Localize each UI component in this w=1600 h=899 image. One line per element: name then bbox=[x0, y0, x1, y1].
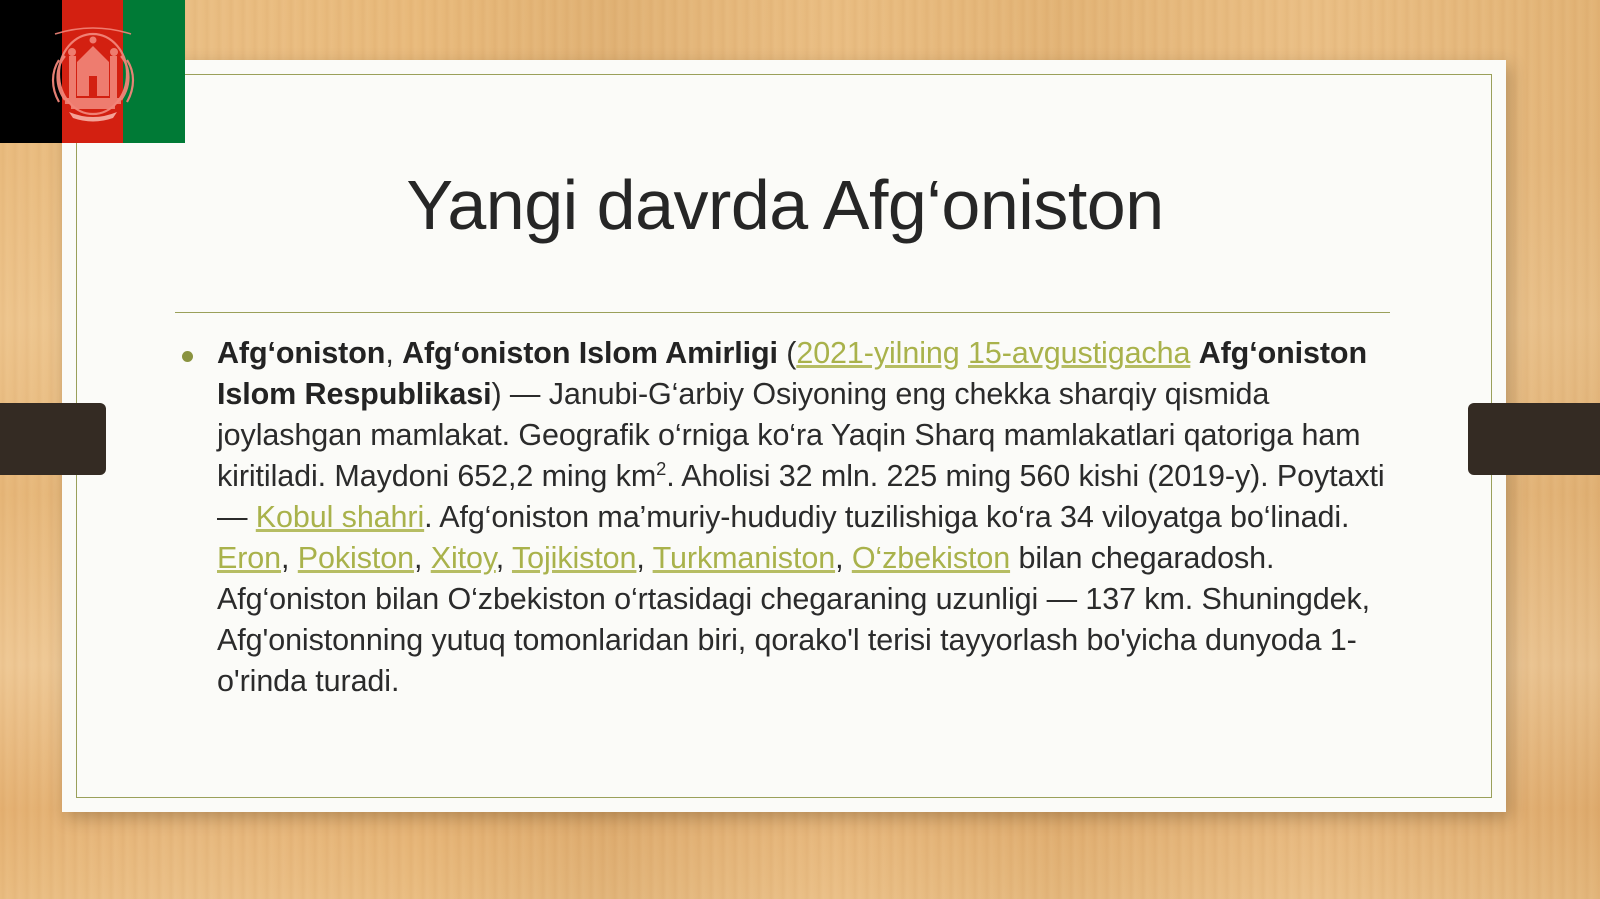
text-open-paren: ( bbox=[778, 336, 796, 370]
slide-title: Yangi davrda Afg‘oniston bbox=[175, 168, 1395, 244]
afghanistan-emblem-icon bbox=[45, 16, 141, 128]
link-kobul-shahri[interactable]: Kobul shahri bbox=[256, 500, 424, 534]
term-afghanistan: Afg‘oniston bbox=[217, 336, 385, 370]
separator-comma: , bbox=[385, 336, 402, 370]
slide-body: Afg‘oniston, Afg‘oniston Islom Amirligi … bbox=[175, 333, 1395, 702]
list-item: Afg‘oniston, Afg‘oniston Islom Amirligi … bbox=[175, 333, 1395, 702]
comma: , bbox=[281, 541, 298, 575]
link-xitoy[interactable]: Xitoy bbox=[431, 541, 496, 575]
comma: , bbox=[496, 541, 512, 575]
title-divider bbox=[175, 312, 1390, 313]
comma: , bbox=[636, 541, 652, 575]
link-pokiston[interactable]: Pokiston bbox=[298, 541, 414, 575]
link-2021-yilning[interactable]: 2021-yilning bbox=[796, 336, 959, 370]
left-decorative-tab bbox=[0, 403, 106, 475]
space bbox=[1190, 336, 1198, 370]
presentation-slide: Yangi davrda Afg‘oniston Afg‘oniston, Af… bbox=[0, 0, 1600, 899]
link-ozbekiston[interactable]: O‘zbekiston bbox=[852, 541, 1010, 575]
link-turkmaniston[interactable]: Turkmaniston bbox=[653, 541, 835, 575]
superscript-square: 2 bbox=[656, 458, 666, 479]
bullet-list: Afg‘oniston, Afg‘oniston Islom Amirligi … bbox=[175, 333, 1395, 702]
link-tojikiston[interactable]: Tojikiston bbox=[512, 541, 636, 575]
space bbox=[960, 336, 968, 370]
right-decorative-tab bbox=[1468, 403, 1600, 475]
comma: , bbox=[414, 541, 431, 575]
term-islamic-emirate: Afg‘oniston Islom Amirligi bbox=[402, 336, 778, 370]
body-text-segment-3: . Afg‘oniston ma’muriy-hududiy tuzilishi… bbox=[424, 500, 1349, 534]
comma: , bbox=[835, 541, 852, 575]
link-15-avgustigacha[interactable]: 15-avgustigacha bbox=[968, 336, 1190, 370]
afghanistan-flag-icon bbox=[0, 0, 185, 143]
link-eron[interactable]: Eron bbox=[217, 541, 281, 575]
